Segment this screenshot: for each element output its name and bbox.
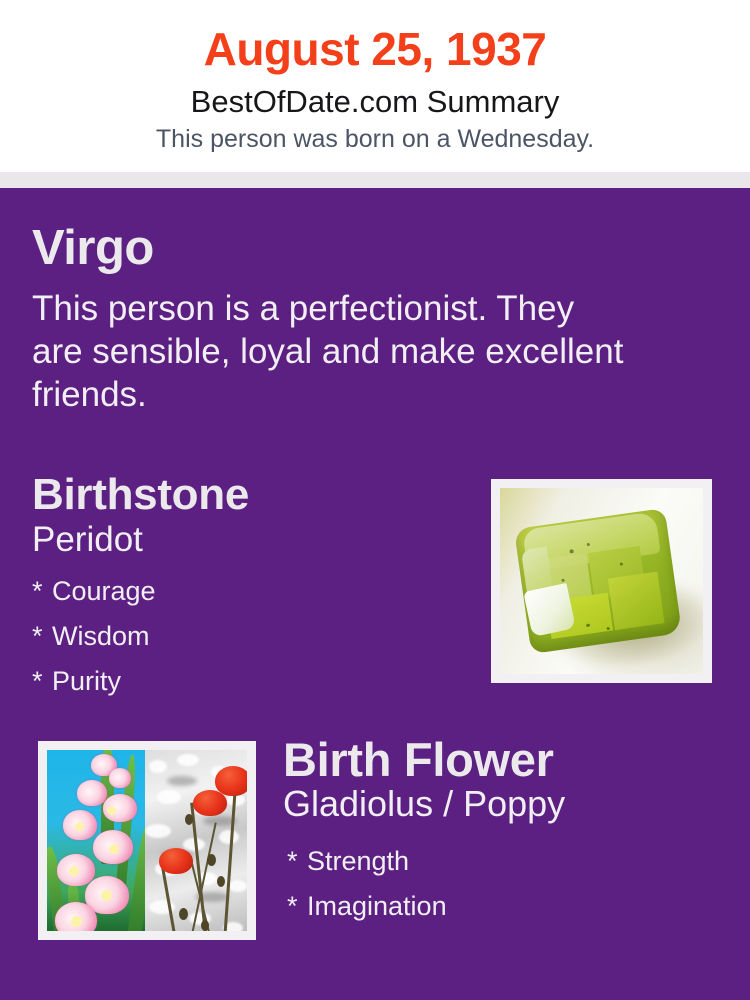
- poppy-bloom: [159, 848, 193, 874]
- gem-highlight: [523, 583, 576, 637]
- birth-flower-section: Birth Flower Gladiolus / Poppy *Strength…: [283, 735, 733, 929]
- peridot-gem-illustration: [514, 508, 682, 654]
- site-name-subtitle: BestOfDate.com Summary: [0, 76, 750, 120]
- birthstone-trait-list: *Courage *Wisdom *Purity: [32, 559, 462, 704]
- bloom-center: [69, 866, 79, 876]
- gladiolus-photo-half: [47, 750, 145, 931]
- bloom-center: [101, 890, 112, 901]
- list-item: *Wisdom: [32, 614, 462, 659]
- birth-flower-photo-frame: [38, 741, 256, 940]
- trait-label: Wisdom: [52, 621, 150, 651]
- list-item: *Purity: [32, 659, 462, 704]
- list-item: *Imagination: [287, 884, 733, 929]
- birth-flower-name: Gladiolus / Poppy: [283, 784, 733, 824]
- birthstone-heading: Birthstone: [32, 472, 462, 518]
- bullet-star-icon: *: [32, 569, 52, 614]
- poppy-bud: [201, 920, 209, 931]
- card-header: August 25, 1937 BestOfDate.com Summary T…: [0, 0, 750, 172]
- zodiac-sign-name: Virgo: [32, 224, 692, 273]
- page-title-date: August 25, 1937: [0, 0, 750, 76]
- weekday-statement: This person was born on a Wednesday.: [0, 119, 750, 154]
- poppy-bud: [217, 876, 225, 887]
- birth-flower-trait-list: *Strength *Imagination: [283, 825, 733, 929]
- list-item: *Courage: [32, 569, 462, 614]
- gem-facet: [608, 572, 665, 630]
- bokeh-highlight: [157, 790, 181, 804]
- bokeh-highlight: [149, 760, 167, 773]
- header-divider: [0, 172, 750, 188]
- bokeh-highlight: [145, 824, 171, 838]
- birthstone-section: Birthstone Peridot *Courage *Wisdom *Pur…: [32, 472, 462, 704]
- bokeh-highlight: [177, 754, 199, 766]
- bullet-star-icon: *: [32, 659, 52, 704]
- birthstone-name: Peridot: [32, 518, 462, 559]
- bullet-star-icon: *: [287, 884, 307, 929]
- bokeh-shadow: [167, 776, 197, 786]
- birthstone-photo-frame: [491, 479, 712, 683]
- bokeh-highlight: [229, 880, 247, 892]
- bullet-star-icon: *: [32, 614, 52, 659]
- birthday-summary-card: August 25, 1937 BestOfDate.com Summary T…: [0, 0, 750, 1000]
- list-item: *Strength: [287, 839, 733, 884]
- trait-label: Imagination: [307, 891, 447, 921]
- poppy-bud: [207, 854, 216, 866]
- poppy-bud: [179, 908, 188, 920]
- birth-flower-heading: Birth Flower: [283, 735, 733, 784]
- trait-label: Courage: [52, 576, 156, 606]
- gladiolus-bloom: [77, 780, 107, 806]
- zodiac-section: Virgo This person is a perfectionist. Th…: [32, 224, 692, 416]
- bullet-star-icon: *: [287, 839, 307, 884]
- zodiac-description: This person is a perfectionist. They are…: [32, 273, 632, 416]
- bloom-center: [71, 916, 82, 927]
- bloom-center: [107, 806, 116, 815]
- poppy-bloom: [193, 790, 227, 816]
- birthstone-photo: [500, 488, 703, 674]
- birth-flower-photo: [47, 750, 247, 931]
- gladiolus-bloom: [109, 768, 131, 788]
- poppy-bud: [185, 814, 193, 825]
- bloom-center: [75, 822, 84, 831]
- trait-label: Strength: [307, 846, 409, 876]
- bloom-center: [109, 844, 119, 854]
- poppy-photo-half: [145, 750, 247, 931]
- trait-label: Purity: [52, 666, 121, 696]
